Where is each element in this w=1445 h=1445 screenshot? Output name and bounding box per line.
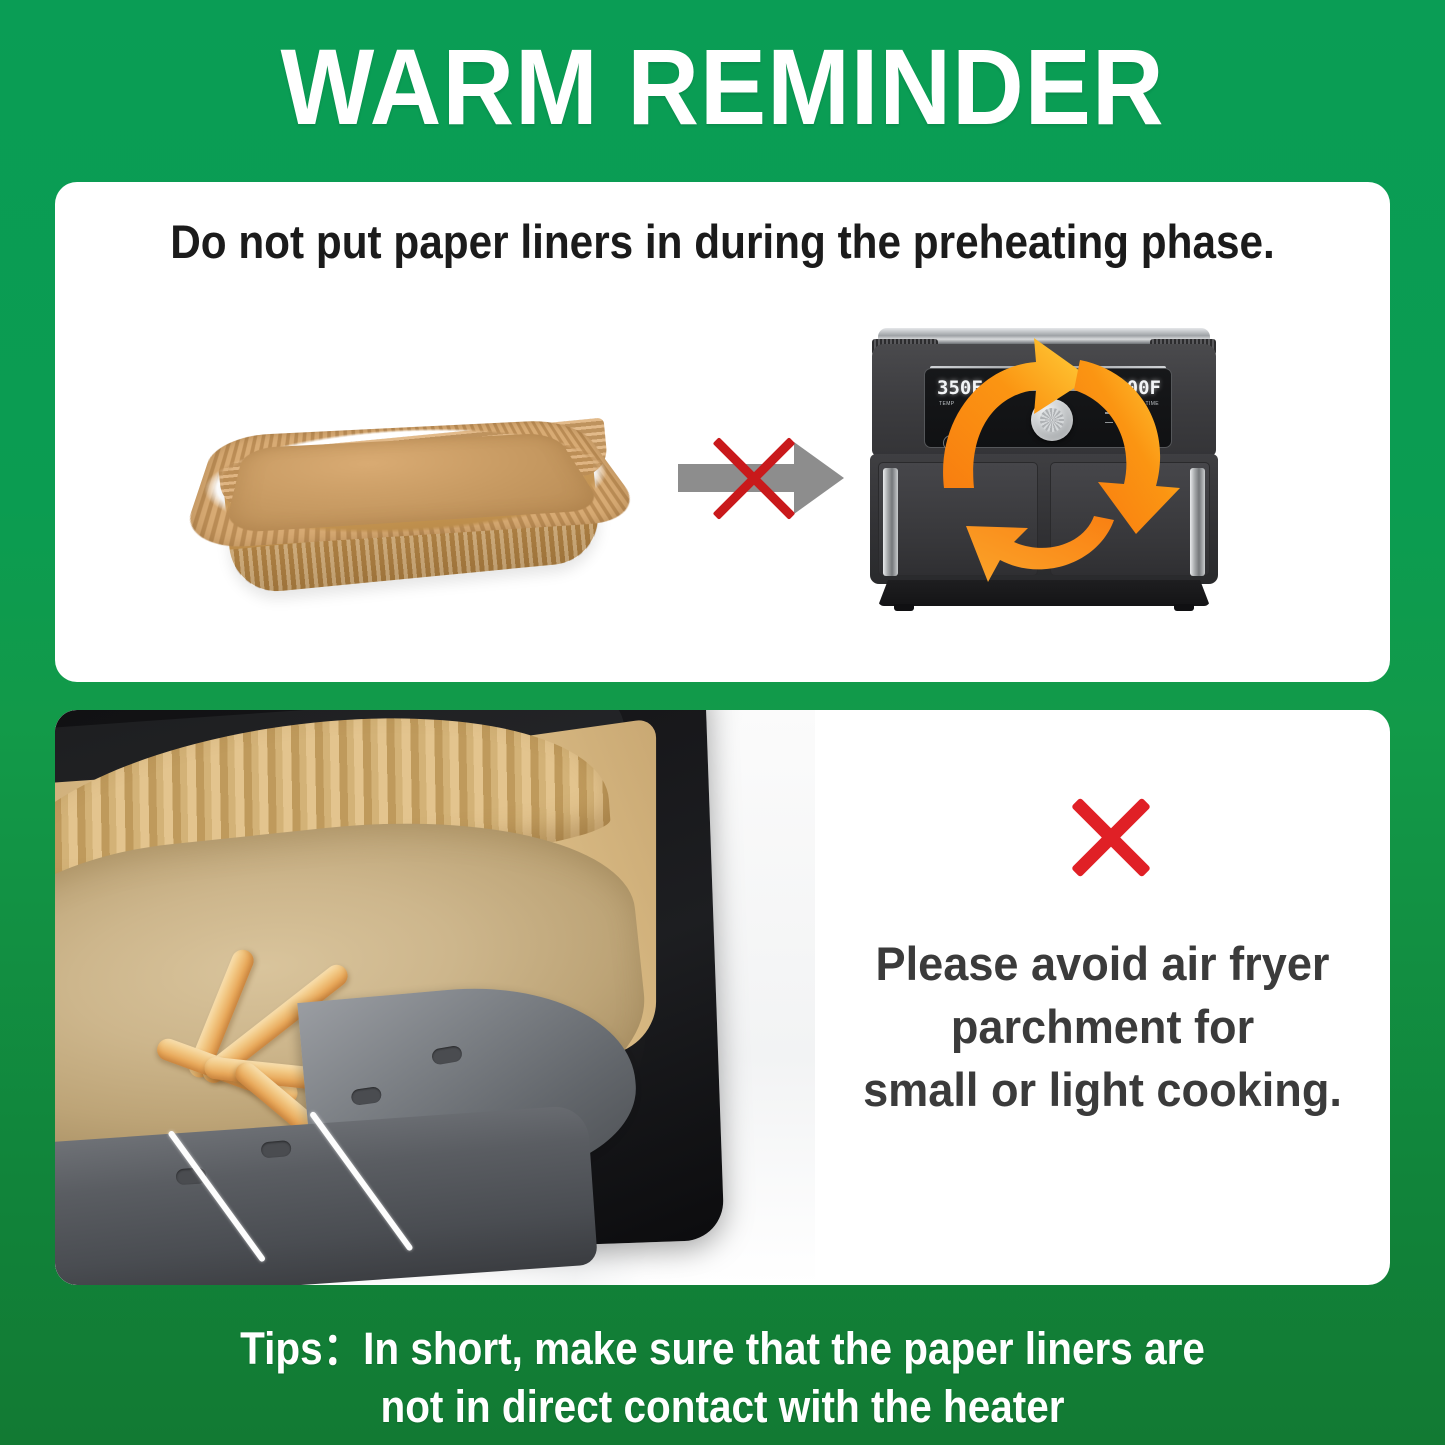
card2-warning-area: Please avoid air fryer parchment for sma… xyxy=(815,710,1390,1285)
card2-warning-text: Please avoid air fryer parchment for sma… xyxy=(827,932,1379,1121)
card-avoid-light-cooking: Please avoid air fryer parchment for sma… xyxy=(55,710,1390,1285)
air-fryer-basket-exterior xyxy=(55,710,725,1264)
air-fryer-illustration: 350F 400F TEMP TIME MATCH COOK SYNC FINI… xyxy=(850,310,1250,640)
paper-liner-stack-illustration xyxy=(175,332,645,632)
tips-line-2: not in direct contact with the heater xyxy=(72,1378,1373,1436)
card2-warning-line-3: small or light cooking. xyxy=(827,1058,1379,1121)
tips-line-1: Tips：In short, make sure that the paper … xyxy=(72,1320,1373,1378)
infographic-root: WARM REMINDER Do not put paper liners in… xyxy=(0,0,1445,1445)
card1-illustration-row: 350F 400F TEMP TIME MATCH COOK SYNC FINI… xyxy=(55,302,1390,682)
bottom-tips: Tips：In short, make sure that the paper … xyxy=(72,1320,1373,1436)
prohibited-transfer-indicator xyxy=(670,414,860,544)
page-title: WARM REMINDER xyxy=(58,36,1387,138)
card1-caption: Do not put paper liners in during the pr… xyxy=(122,216,1324,268)
card2-warning-line-2: parchment for xyxy=(827,995,1379,1058)
card-preheating-warning: Do not put paper liners in during the pr… xyxy=(55,182,1390,682)
air-fryer-basket-photo xyxy=(55,710,815,1285)
red-x-icon xyxy=(1067,792,1155,880)
hot-air-circulation-arrows-icon xyxy=(884,320,1204,620)
red-x-icon xyxy=(704,428,804,528)
card2-warning-line-1: Please avoid air fryer xyxy=(827,932,1379,995)
